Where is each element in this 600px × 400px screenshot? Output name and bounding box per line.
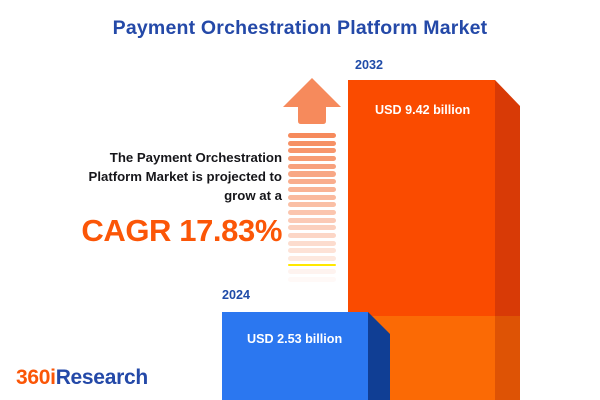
arrow-stripe bbox=[288, 195, 336, 200]
bar-base-2024: 2024 USD 2.53 billion bbox=[222, 312, 390, 400]
bar-year-label-2024: 2024 bbox=[222, 288, 250, 302]
arrow-stripe bbox=[288, 210, 336, 215]
arrow-stripe bbox=[288, 225, 336, 230]
arrow-stripe bbox=[288, 264, 336, 267]
brand-logo: 360iResearch bbox=[16, 366, 148, 390]
caption-line-3: grow at a bbox=[24, 186, 282, 205]
arrow-stripe bbox=[288, 218, 336, 223]
caption-line-1: The Payment Orchestration bbox=[24, 148, 282, 167]
arrow-stripe bbox=[288, 133, 336, 138]
arrow-stripe bbox=[288, 233, 336, 238]
arrow-stripe bbox=[288, 141, 336, 146]
arrow-stripe bbox=[288, 156, 336, 161]
bar-side-face-lower-2032 bbox=[495, 316, 520, 400]
cagr-value: CAGR 17.83% bbox=[24, 214, 282, 248]
arrow-stripe bbox=[288, 148, 336, 153]
bar-value-label-2024: USD 2.53 billion bbox=[247, 332, 342, 346]
bar-side-face-2024 bbox=[368, 312, 390, 400]
arrow-shaft-stripes bbox=[288, 133, 336, 292]
arrow-stripe bbox=[288, 256, 336, 261]
caption-block: The Payment Orchestration Platform Marke… bbox=[24, 148, 282, 248]
bar-front-face-2024 bbox=[222, 312, 368, 400]
logo-text-research: Research bbox=[56, 366, 148, 389]
arrow-stripe bbox=[288, 171, 336, 176]
arrow-stripe bbox=[288, 187, 336, 192]
arrow-stripe bbox=[288, 164, 336, 169]
up-arrow-head-icon bbox=[281, 76, 343, 132]
arrow-stripe bbox=[288, 202, 336, 207]
growth-arrow-icon bbox=[281, 76, 343, 292]
logo-text-360: 360 bbox=[16, 366, 50, 389]
bar-year-label-2032: 2032 bbox=[355, 58, 383, 72]
caption-line-2: Platform Market is projected to bbox=[24, 167, 282, 186]
arrow-stripe bbox=[288, 241, 336, 246]
page-title: Payment Orchestration Platform Market bbox=[0, 17, 600, 40]
bar-value-label-2032: USD 9.42 billion bbox=[375, 103, 470, 117]
arrow-stripe bbox=[288, 269, 336, 274]
arrow-stripe bbox=[288, 277, 336, 282]
arrow-stripe bbox=[288, 248, 336, 253]
arrow-stripe bbox=[288, 179, 336, 184]
arrow-stripe bbox=[288, 284, 336, 289]
market-size-infographic: Payment Orchestration Platform Market Th… bbox=[0, 0, 600, 400]
